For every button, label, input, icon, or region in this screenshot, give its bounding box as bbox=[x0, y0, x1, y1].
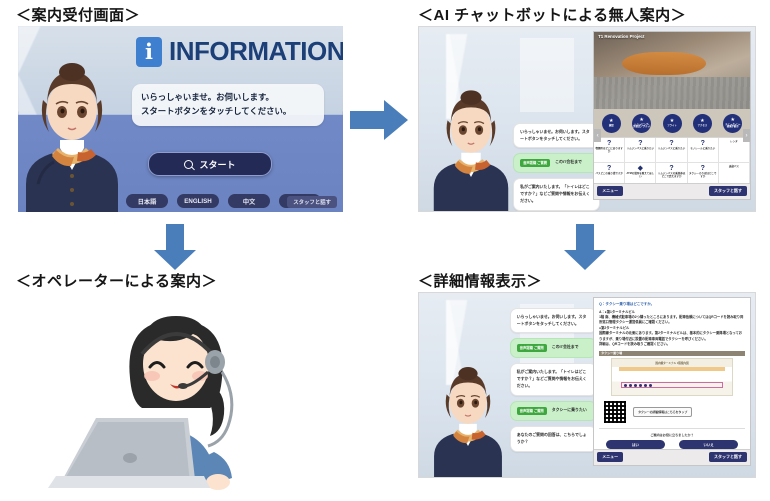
faq-tile[interactable]: ? リムジンバスに乗りたい bbox=[625, 138, 656, 163]
feedback-no-button[interactable]: いいえ bbox=[679, 440, 737, 449]
category-button-facilities[interactable]: ★ 施設 bbox=[602, 114, 621, 133]
chat-bubble-user: 音声認識 ご質問 タクシーに乗りたい bbox=[510, 401, 597, 421]
chat-bubble-bot: いらっしゃいませ。お伺いします。スタートボタンをタッチしてください。 bbox=[513, 123, 600, 149]
qr-and-link-row: タクシーの詳細情報はこちらをタップ bbox=[599, 400, 745, 424]
chat-bubble-text: 私がご案内いたします。「トイレはどこですか？」などご質問や情報をお伝えください。 bbox=[520, 184, 593, 204]
chat-bubble-text: このIT会社まで bbox=[552, 344, 590, 351]
faq-tile-label: リムジンバスの乗車券はどこで買えますか bbox=[657, 173, 685, 179]
map-marker bbox=[629, 384, 632, 387]
detail-tag-bar: タクシー乗り場 bbox=[599, 351, 745, 356]
terminal-floor-map: 国内線ターミナル 1階案内図 bbox=[611, 358, 734, 396]
faq-tile-label: モノレールに乗りたい bbox=[690, 148, 715, 151]
faq-tile[interactable]: ? モノレールに乗りたい bbox=[688, 138, 719, 163]
category-label: アクセス bbox=[698, 125, 707, 128]
chat-bubble-text: タクシーに乗りたい bbox=[552, 407, 590, 414]
chat-bubble-bot: 私がご案内いたします。「トイレはどこですか？」などご質問や情報をお伝えください。 bbox=[513, 178, 600, 210]
language-button-zh[interactable]: 中文 bbox=[228, 194, 270, 208]
language-button-ja[interactable]: 日本語 bbox=[126, 194, 168, 208]
detail-answer-line: 1階 南、機械式駐車場の2つ隣ったところにあります。配車依頼についてはQRコード… bbox=[599, 315, 745, 326]
qr-code-icon bbox=[603, 400, 627, 424]
chat-bubble-bot: いらっしゃいませ。お伺いします。スタートボタンをタッチしてください。 bbox=[510, 308, 597, 334]
caption-detail: ＜詳細情報表示＞ bbox=[418, 270, 542, 291]
avatar-attendant bbox=[423, 75, 519, 211]
star-icon: ★ bbox=[639, 118, 643, 123]
category-button-flight[interactable]: ★ フライト bbox=[663, 114, 682, 133]
information-header: i INFORMATION bbox=[136, 36, 343, 67]
arrow-chatbot-to-detail bbox=[562, 222, 608, 272]
search-icon bbox=[184, 160, 193, 169]
kiosk-bottom-bar: メニュー スタッフと話す bbox=[594, 449, 750, 466]
panel-reception-screen: i INFORMATION いらっしゃいませ。お伺いします。 スタートボタンをタ… bbox=[18, 26, 343, 212]
menu-button[interactable]: メニュー bbox=[597, 452, 623, 462]
feedback-buttons: はい いいえ bbox=[599, 440, 745, 449]
category-label: フライト bbox=[667, 125, 677, 128]
faq-tile-label: レンタ bbox=[730, 141, 738, 144]
detail-body: Q：タクシー乗り場はどこですか。 A：●第1ターミナルビル 1階 南、機械式駐車… bbox=[594, 298, 750, 460]
start-button-label: スタート bbox=[199, 158, 235, 171]
language-button-en[interactable]: ENGLISH bbox=[177, 194, 219, 208]
feedback-question: ご案内はお役に立ちましたか？ bbox=[599, 432, 745, 437]
information-wordmark: INFORMATION bbox=[169, 36, 343, 67]
map-marker bbox=[624, 384, 627, 387]
divider bbox=[599, 428, 745, 429]
menu-button[interactable]: メニュー bbox=[597, 186, 623, 196]
feedback-yes-button[interactable]: はい bbox=[606, 440, 664, 449]
caption-reception: ＜案内受付画面＞ bbox=[16, 4, 140, 25]
category-label: ショッピング・免税店／グルメ bbox=[633, 124, 650, 129]
star-icon: ★ bbox=[731, 118, 735, 123]
caption-operator: ＜オペレーターによる案内＞ bbox=[16, 270, 217, 291]
detail-answer-line: 国際線ターミナルの北側にあります。第2ターミナルビルは、基本的にタクシー乗降場と… bbox=[599, 331, 745, 342]
faq-tile-label: バスどこの乗り場ですか bbox=[595, 173, 622, 176]
chat-transcript: いらっしゃいませ。お伺いします。スタートボタンをタッチしてください。 音声認識 … bbox=[510, 308, 597, 457]
start-button[interactable]: スタート bbox=[148, 152, 272, 176]
avatar-attendant bbox=[423, 353, 513, 477]
panel-detail-screen: いらっしゃいませ。お伺いします。スタートボタンをタッチしてください。 音声認識 … bbox=[418, 292, 756, 478]
staff-call-button[interactable]: スタッフと話す bbox=[287, 196, 337, 208]
faq-tile-label: ATMの場所を教えてほしい bbox=[626, 173, 654, 179]
faq-tile[interactable]: ? リムジンバスに乗りたい bbox=[656, 138, 687, 163]
chat-bubble-text: あなたのご質問の回答は、こちらでしょうか？ bbox=[517, 432, 590, 446]
category-button-access[interactable]: ★ アクセス bbox=[693, 114, 712, 133]
staff-call-button[interactable]: スタッフと話す bbox=[709, 452, 747, 462]
category-label: 施設 bbox=[609, 125, 614, 128]
chat-bubble-bot: あなたのご質問の回答は、こちらでしょうか？ bbox=[510, 426, 597, 452]
information-i-icon: i bbox=[136, 37, 162, 67]
map-marker bbox=[649, 384, 652, 387]
faq-tile-label: 喫煙所はどこにありますか bbox=[595, 148, 623, 154]
category-button-shopping[interactable]: ★ ショッピング・免税店／グルメ bbox=[632, 114, 651, 133]
hero-image: T1 Renovation Project bbox=[594, 32, 750, 109]
faq-tile[interactable]: レンタ bbox=[719, 138, 750, 163]
map-corridor-band bbox=[619, 367, 725, 371]
category-label: チェックイン・搭乗手続き bbox=[724, 124, 741, 129]
faq-tile-grid: ? 喫煙所はどこにありますか ? リムジンバスに乗りたい ? リムジンバスに乗り… bbox=[594, 137, 750, 188]
map-highlight-row bbox=[621, 382, 722, 388]
arrow-reception-to-chatbot bbox=[348, 98, 410, 142]
chat-bubble-bot: 私がご案内いたします。「トイレはどこですか？」などご質問や情報をお伝えください。 bbox=[510, 363, 597, 395]
chat-bubble-text: このIT会社まで bbox=[555, 159, 593, 166]
avatar-attendant bbox=[20, 44, 124, 212]
chat-bubble-user: 音声認識 ご質問 このIT会社まで bbox=[513, 153, 600, 173]
greeting-speech-bubble: いらっしゃいませ。お伺いします。 スタートボタンをタッチしてください。 bbox=[132, 84, 324, 126]
map-marker bbox=[644, 384, 647, 387]
panel-ai-chatbot-screen: いらっしゃいませ。お伺いします。スタートボタンをタッチしてください。 音声認識 … bbox=[418, 26, 756, 212]
voice-recognition-tag: 音声認識 ご質問 bbox=[520, 159, 550, 167]
detail-answer-line: 詳細は、QRコードを読み取りご確認ください。 bbox=[599, 342, 745, 347]
category-button-row: ★ 施設 ★ ショッピング・免税店／グルメ ★ フライト ★ アクセス ★ bbox=[594, 109, 750, 137]
map-marker bbox=[634, 384, 637, 387]
detail-content-screen: Q：タクシー乗り場はどこですか。 A：●第1ターミナルビル 1階 南、機械式駐車… bbox=[593, 297, 751, 466]
arrow-reception-to-operator bbox=[152, 222, 198, 272]
voice-recognition-tag: 音声認識 ご質問 bbox=[517, 344, 547, 352]
panel-operator-illustration bbox=[18, 292, 343, 490]
faq-tile[interactable]: ? 喫煙所はどこにありますか bbox=[594, 138, 625, 163]
greeting-line-2: スタートボタンをタッチしてください。 bbox=[141, 105, 315, 119]
operator-with-headset-and-laptop bbox=[18, 292, 343, 490]
map-marker bbox=[639, 384, 642, 387]
figure-canvas: ＜案内受付画面＞ i INFORMATION いらっしゃいませ。お伺いします。 … bbox=[0, 0, 770, 501]
kiosk-bottom-bar: メニュー スタッフと話す bbox=[594, 183, 750, 200]
chat-bubble-user: 音声認識 ご質問 このIT会社まで bbox=[510, 338, 597, 358]
staff-call-button[interactable]: スタッフと話す bbox=[709, 186, 747, 196]
map-title: 国内線ターミナル 1階案内図 bbox=[655, 361, 688, 365]
faq-tile-label: 送迎バス bbox=[729, 166, 739, 169]
kiosk-content-screen: T1 Renovation Project ★ 施設 ★ ショッピング・免税店／… bbox=[593, 31, 751, 200]
chat-bubble-text: いらっしゃいませ。お伺いします。スタートボタンをタッチしてください。 bbox=[517, 314, 590, 328]
detail-question: Q：タクシー乗り場はどこですか。 bbox=[599, 302, 745, 308]
chat-bubble-text: いらっしゃいませ。お伺いします。スタートボタンをタッチしてください。 bbox=[520, 129, 593, 143]
detail-link-button[interactable]: タクシーの詳細情報はこちらをタップ bbox=[633, 407, 692, 417]
category-button-checkin[interactable]: ★ チェックイン・搭乗手続き bbox=[723, 114, 742, 133]
caption-ai-chatbot: ＜AI チャットボットによる無人案内＞ bbox=[418, 4, 686, 25]
chat-bubble-text: 私がご案内いたします。「トイレはどこですか？」などご質問や情報をお伝えください。 bbox=[517, 369, 590, 389]
faq-tile-label: リムジンバスに乗りたい bbox=[658, 148, 686, 151]
carousel-prev-button[interactable]: ‹ bbox=[594, 129, 601, 142]
hero-image-label: T1 Renovation Project bbox=[598, 34, 644, 39]
faq-tile-label: タクシーのりばはどこですか bbox=[689, 173, 717, 179]
carousel-next-button[interactable]: › bbox=[743, 129, 750, 142]
voice-recognition-tag: 音声認識 ご質問 bbox=[517, 407, 547, 415]
detail-tag-label: タクシー乗り場 bbox=[599, 351, 745, 356]
faq-tile-label: リムジンバスに乗りたい bbox=[627, 148, 655, 151]
greeting-line-1: いらっしゃいませ。お伺いします。 bbox=[141, 91, 315, 105]
chat-transcript: いらっしゃいませ。お伺いします。スタートボタンをタッチしてください。 音声認識 … bbox=[513, 123, 600, 212]
